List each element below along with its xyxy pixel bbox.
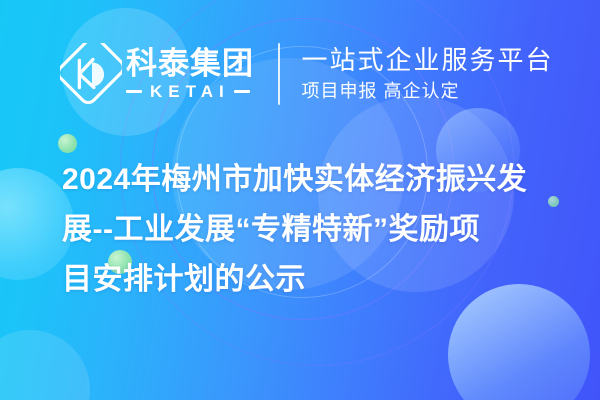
decorative-blob-bottom-left	[0, 330, 90, 400]
title-line-3: 目安排计划的公示	[62, 255, 552, 305]
header-divider	[278, 43, 280, 105]
decorative-dot-green-upper	[58, 134, 77, 153]
banner-header: 科泰集团 KETAI 一站式企业服务平台 项目申报 高企认定	[60, 38, 554, 110]
title-line-2: 展--工业发展“专精特新”奖励项	[62, 205, 552, 255]
dash-left-icon	[126, 90, 142, 93]
banner-title: 2024年梅州市加快实体经济振兴发 展--工业发展“专精特新”奖励项 目安排计划…	[62, 155, 552, 305]
brand-name-en-row: KETAI	[126, 83, 254, 101]
brand-logo[interactable]: 科泰集团 KETAI	[60, 43, 254, 105]
brand-wordmark: 科泰集团 KETAI	[126, 48, 254, 101]
tagline-main: 一站式企业服务平台	[302, 45, 554, 75]
ketai-diamond-logo-icon	[60, 43, 122, 105]
brand-name-en: KETAI	[150, 83, 230, 101]
tagline-block: 一站式企业服务平台 项目申报 高企认定	[302, 45, 554, 103]
title-line-1: 2024年梅州市加快实体经济振兴发	[62, 155, 552, 205]
brand-name-cn: 科泰集团	[126, 48, 254, 80]
promo-banner: 科泰集团 KETAI 一站式企业服务平台 项目申报 高企认定 2024年梅州市加…	[0, 0, 600, 400]
tagline-sub: 项目申报 高企认定	[302, 79, 554, 103]
dash-right-icon	[234, 90, 250, 93]
